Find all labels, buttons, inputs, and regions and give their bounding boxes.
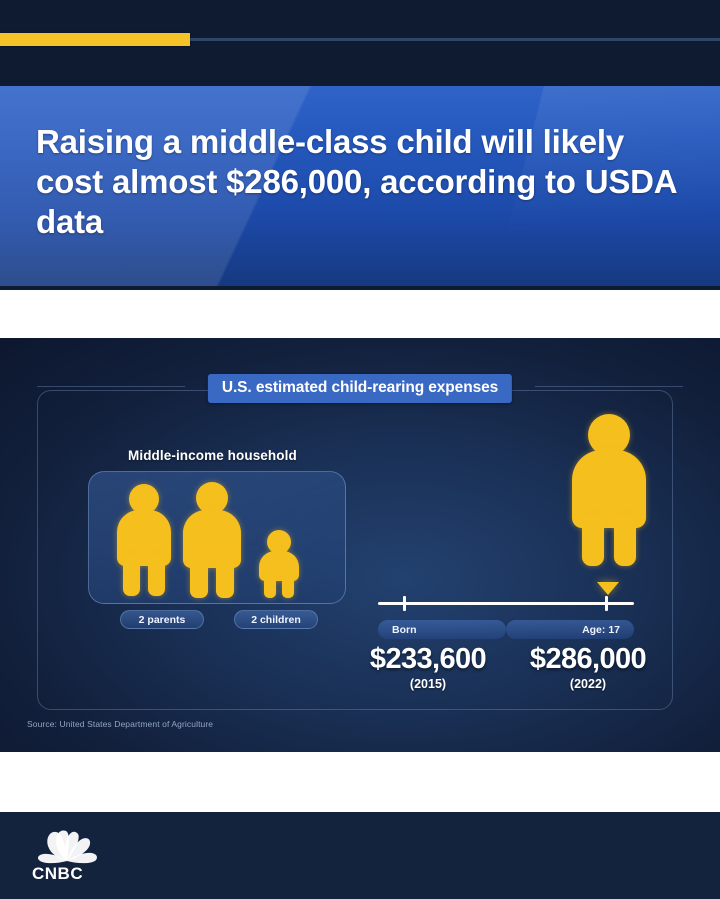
timeline-tick-born [403,596,406,611]
age-timeline [378,596,634,612]
infographic-page: Raising a middle-class child will likely… [0,0,720,899]
chart-title: U.S. estimated child-rearing expenses [208,374,512,403]
headline-banner: Raising a middle-class child will likely… [0,86,720,286]
amount-2022-value: $286,000 [508,643,668,675]
title-rule-left [37,386,185,387]
amount-2015-value: $233,600 [348,643,508,675]
cost-amounts: $233,600 (2015) $286,000 (2022) [340,643,670,699]
household-badges: 2 parents 2 children [88,610,346,630]
badge-parents: 2 parents [120,610,204,629]
divider-band-top [0,290,720,338]
household-figures-card [88,471,346,604]
amount-2022-year: (2022) [508,677,668,691]
adult-figure-2 [181,482,243,598]
timeline-label-born: Born [378,620,506,639]
divider-band-bottom [0,752,720,812]
age-marker-triangle-icon [597,582,619,595]
timeline-label-age17: Age: 17 [506,620,634,639]
grown-child-figure [570,414,648,566]
title-rule-right [535,386,683,387]
footer: CNBC [0,812,720,899]
child-figure [257,530,301,598]
badge-children: 2 children [234,610,318,629]
household-label: Middle-income household [128,448,297,463]
amount-2022: $286,000 (2022) [508,643,668,691]
source-note: Source: United States Department of Agri… [27,719,213,729]
timeline-axis [378,602,634,605]
amount-2015-year: (2015) [348,677,508,691]
headline-text: Raising a middle-class child will likely… [36,122,686,242]
timeline-tick-age17 [605,596,608,611]
chart-area: U.S. estimated child-rearing expenses Mi… [0,338,720,752]
cnbc-logo: CNBC [30,828,140,884]
amount-2015: $233,600 (2015) [348,643,508,691]
top-strip [0,0,720,86]
cnbc-peacock-icon [30,828,104,864]
progress-bar-fill [0,33,190,46]
cnbc-wordmark: CNBC [32,864,83,884]
adult-figure-1 [115,484,173,596]
